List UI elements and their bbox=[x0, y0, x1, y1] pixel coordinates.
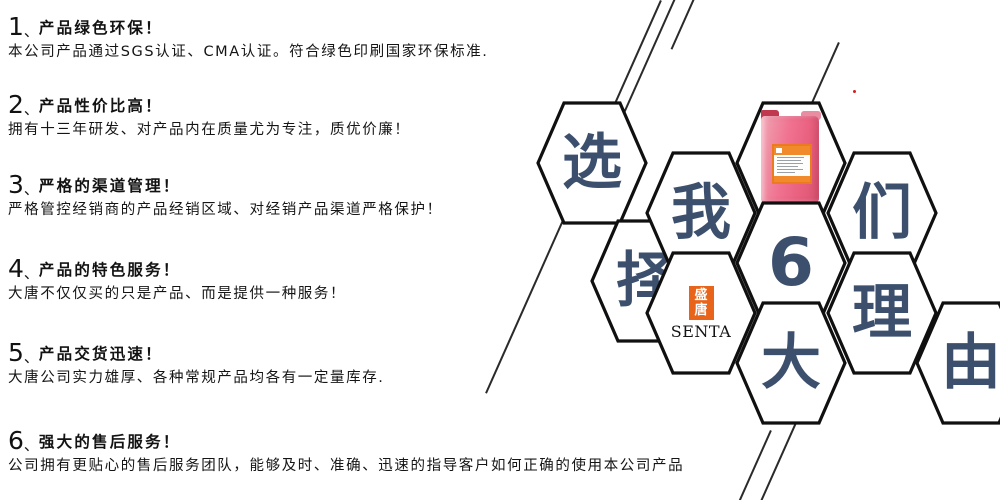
feature-item-5: 5、产品交货迅速！ 大唐公司实力雄厚、各种常规产品均各有一定量库存. bbox=[8, 340, 385, 387]
logo-wordmark: SENTA bbox=[671, 322, 732, 341]
feature-title: 严格的渠道管理！ bbox=[39, 177, 181, 195]
feature-description: 大唐不仅仅买的只是产品、而是提供一种服务！ bbox=[8, 286, 346, 303]
feature-description: 公司拥有更贴心的售后服务团队，能够及时、准确、迅速的指导客户如何正确的使用本公司… bbox=[8, 458, 684, 475]
feature-number: 2 bbox=[8, 90, 24, 119]
feature-description: 本公司产品通过SGS认证、CMA认证。符合绿色印刷国家环保标准. bbox=[8, 44, 489, 61]
feature-separator: 、 bbox=[24, 348, 39, 366]
feature-separator: 、 bbox=[24, 436, 39, 454]
feature-title: 强大的售后服务！ bbox=[39, 433, 181, 451]
logo-seal-icon: 盛 唐 bbox=[689, 286, 714, 320]
logo-char-top: 盛 bbox=[694, 288, 707, 303]
hex-label: 选 bbox=[536, 100, 648, 226]
honeycomb-headline-group: 选 择 我 bbox=[0, 0, 1000, 500]
product-container-image bbox=[757, 106, 825, 206]
can-label-text-lines bbox=[774, 155, 810, 177]
feature-title: 产品的特色服务！ bbox=[39, 261, 181, 279]
decorative-diagonal-line bbox=[671, 0, 697, 50]
feature-item-1: 1、产品绿色环保！ 本公司产品通过SGS认证、CMA认证。符合绿色印刷国家环保标… bbox=[8, 14, 489, 61]
feature-title: 产品交货迅速！ bbox=[39, 345, 163, 363]
feature-heading: 4、产品的特色服务！ bbox=[8, 256, 346, 281]
feature-title: 产品绿色环保！ bbox=[39, 19, 163, 37]
decorative-diagonal-line bbox=[760, 418, 798, 500]
feature-number: 4 bbox=[8, 254, 24, 283]
feature-item-2: 2、产品性价比高！ 拥有十三年研发、对产品内在质量尤为专注，质优价廉！ bbox=[8, 92, 411, 139]
hex-label: 由 bbox=[915, 300, 1000, 426]
hex-cell-you[interactable]: 由 bbox=[915, 300, 1000, 426]
feature-description: 拥有十三年研发、对产品内在质量尤为专注，质优价廉！ bbox=[8, 122, 411, 139]
feature-heading: 1、产品绿色环保！ bbox=[8, 14, 489, 39]
can-label-header bbox=[774, 146, 810, 155]
feature-heading: 5、产品交货迅速！ bbox=[8, 340, 385, 365]
feature-item-6: 6、强大的售后服务！ 公司拥有更贴心的售后服务团队，能够及时、准确、迅速的指导客… bbox=[8, 428, 684, 475]
feature-separator: 、 bbox=[24, 100, 39, 118]
feature-separator: 、 bbox=[24, 180, 39, 198]
hex-cell-xuan[interactable]: 选 bbox=[536, 100, 648, 226]
can-body bbox=[761, 116, 819, 202]
feature-title: 产品性价比高！ bbox=[39, 97, 163, 115]
feature-description: 严格管控经销商的产品经销区域、对经销产品渠道严格保护！ bbox=[8, 202, 443, 219]
feature-number: 1 bbox=[8, 12, 24, 41]
feature-number: 6 bbox=[8, 426, 24, 455]
feature-item-3: 3、严格的渠道管理！ 严格管控经销商的产品经销区域、对经销产品渠道严格保护！ bbox=[8, 172, 443, 219]
feature-heading: 6、强大的售后服务！ bbox=[8, 428, 684, 453]
can-label-footer bbox=[774, 176, 810, 182]
feature-separator: 、 bbox=[24, 22, 39, 40]
feature-description: 大唐公司实力雄厚、各种常规产品均各有一定量库存. bbox=[8, 370, 385, 387]
feature-heading: 2、产品性价比高！ bbox=[8, 92, 411, 117]
feature-item-4: 4、产品的特色服务！ 大唐不仅仅买的只是产品、而是提供一种服务！ bbox=[8, 256, 346, 303]
feature-heading: 3、严格的渠道管理！ bbox=[8, 172, 443, 197]
feature-number: 5 bbox=[8, 338, 24, 367]
decorative-dot bbox=[853, 90, 856, 93]
feature-separator: 、 bbox=[24, 264, 39, 282]
promo-banner: 1、产品绿色环保！ 本公司产品通过SGS认证、CMA认证。符合绿色印刷国家环保标… bbox=[0, 0, 1000, 500]
can-label bbox=[772, 144, 812, 184]
feature-number: 3 bbox=[8, 170, 24, 199]
logo-char-bottom: 唐 bbox=[694, 303, 707, 318]
